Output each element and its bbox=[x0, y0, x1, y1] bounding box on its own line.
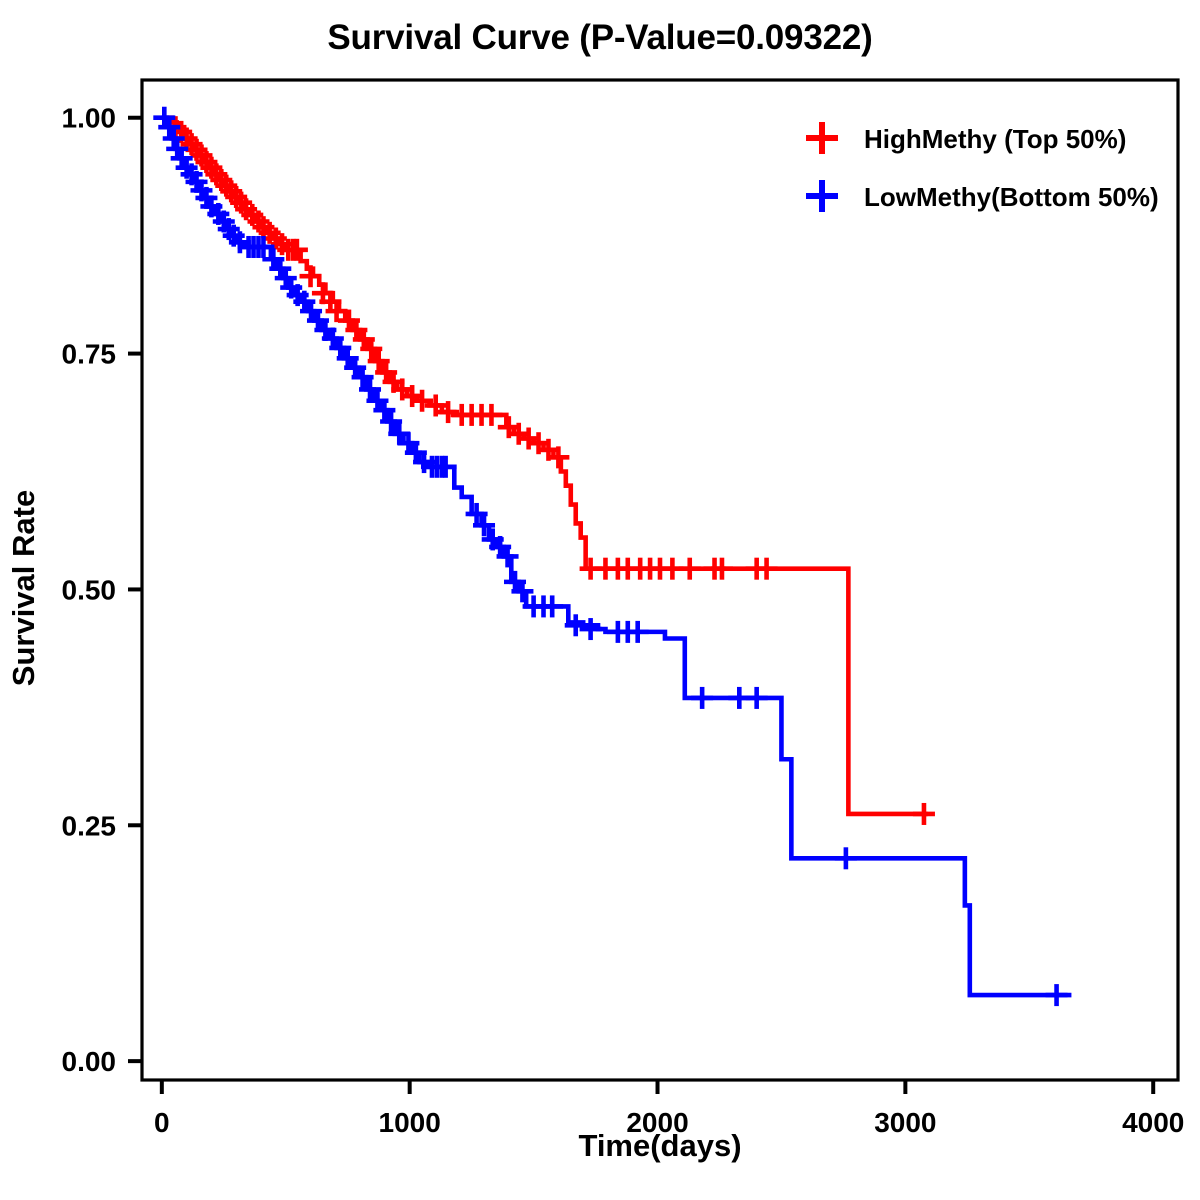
legend-item-1[interactable]: LowMethy(Bottom 50%) bbox=[806, 180, 1159, 212]
plot-area: 010002000300040000.000.250.500.751.00 Hi… bbox=[0, 0, 1200, 1200]
x-tick-label: 1000 bbox=[379, 1107, 441, 1138]
survival-chart-figure: Survival Curve (P-Value=0.09322) Surviva… bbox=[0, 0, 1200, 1200]
axis-ticks: 010002000300040000.000.250.500.751.00 bbox=[62, 103, 1185, 1138]
censor-marks bbox=[164, 116, 934, 825]
legend-item-0[interactable]: HighMethy (Top 50%) bbox=[806, 122, 1126, 154]
y-tick-label: 1.00 bbox=[62, 103, 117, 134]
plot-frame bbox=[142, 80, 1178, 1080]
curve-line bbox=[162, 118, 928, 814]
y-tick-label: 0.75 bbox=[62, 339, 117, 370]
legend-label: HighMethy (Top 50%) bbox=[864, 124, 1126, 154]
x-tick-label: 3000 bbox=[874, 1107, 936, 1138]
x-tick-label: 0 bbox=[154, 1107, 170, 1138]
chart-legend: HighMethy (Top 50%)LowMethy(Bottom 50%) bbox=[806, 122, 1159, 212]
y-tick-label: 0.00 bbox=[62, 1046, 117, 1077]
y-tick-label: 0.25 bbox=[62, 810, 117, 841]
x-tick-label: 2000 bbox=[626, 1107, 688, 1138]
legend-label: LowMethy(Bottom 50%) bbox=[864, 182, 1159, 212]
x-tick-label: 4000 bbox=[1122, 1107, 1184, 1138]
survival-curves bbox=[153, 107, 1071, 1006]
survival-curve-series-0 bbox=[162, 116, 935, 825]
y-tick-label: 0.50 bbox=[62, 574, 117, 605]
